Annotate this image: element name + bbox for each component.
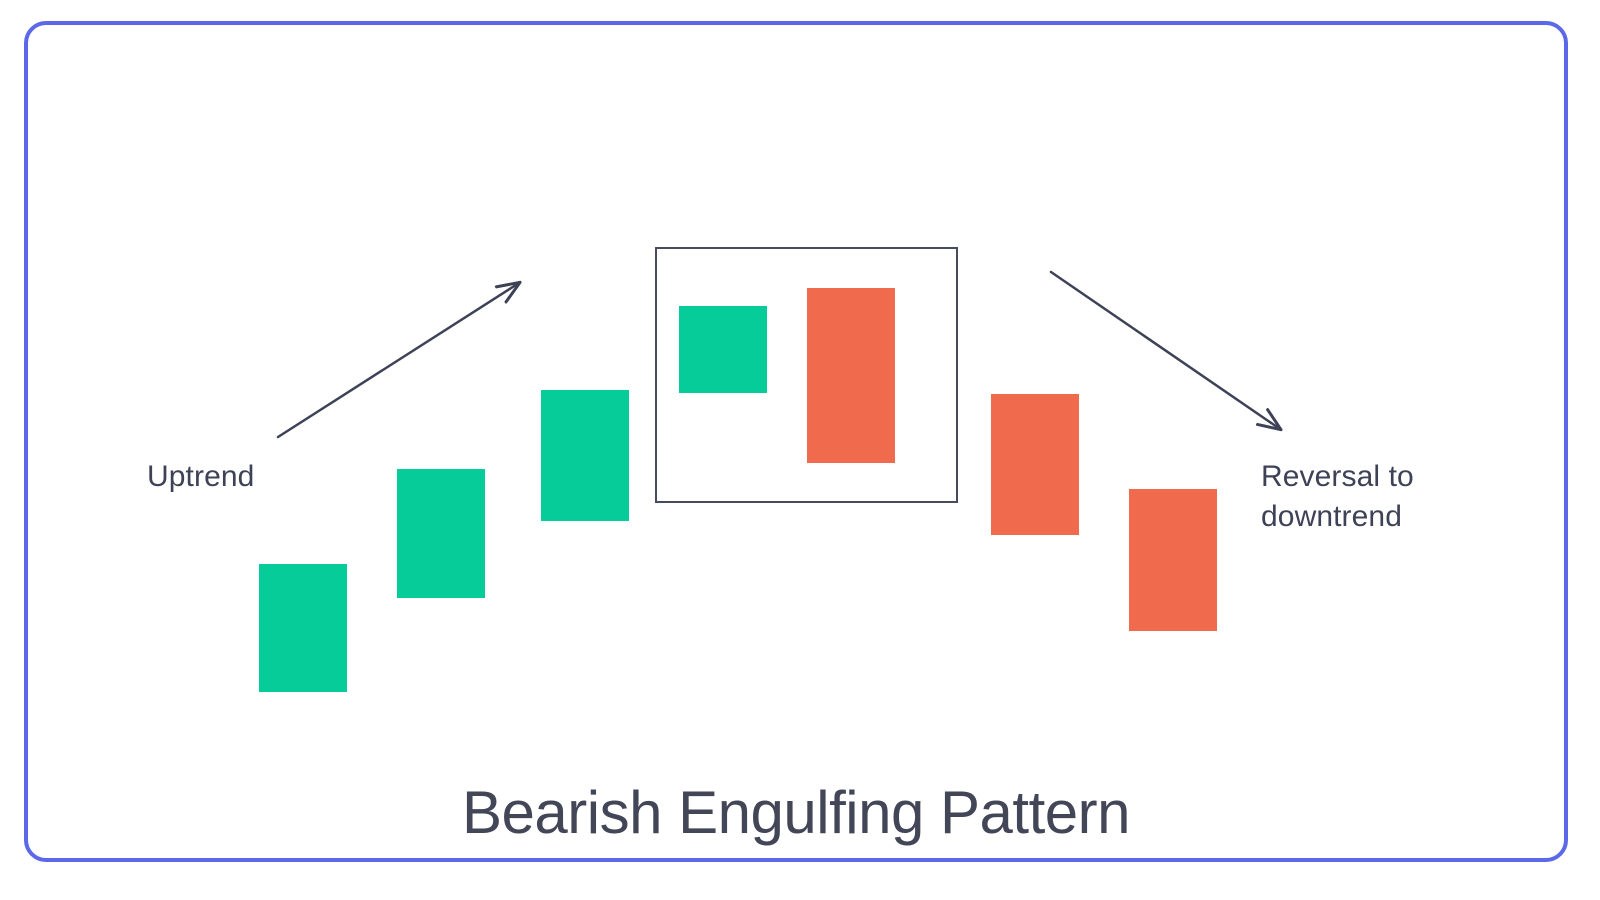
uptrend-label: Uptrend <box>147 457 254 497</box>
uptrend-arrow <box>278 283 519 437</box>
candle-body-1-bullish <box>259 564 347 692</box>
page-title: Bearish Engulfing Pattern <box>28 777 1564 849</box>
candle-body-6-bearish <box>991 394 1079 535</box>
candle-body-4-bullish <box>679 306 767 393</box>
downtrend-arrow <box>1051 272 1280 429</box>
diagram-card: Uptrend Reversal to downtrend Bearish En… <box>24 21 1568 862</box>
candle-body-3-bullish <box>541 390 629 521</box>
candle-body-7-bearish <box>1129 489 1217 631</box>
candle-body-5-bearish <box>807 288 895 463</box>
reversal-label: Reversal to downtrend <box>1261 457 1481 537</box>
diagram-canvas: Uptrend Reversal to downtrend Bearish En… <box>0 0 1600 900</box>
candle-body-2-bullish <box>397 469 485 598</box>
